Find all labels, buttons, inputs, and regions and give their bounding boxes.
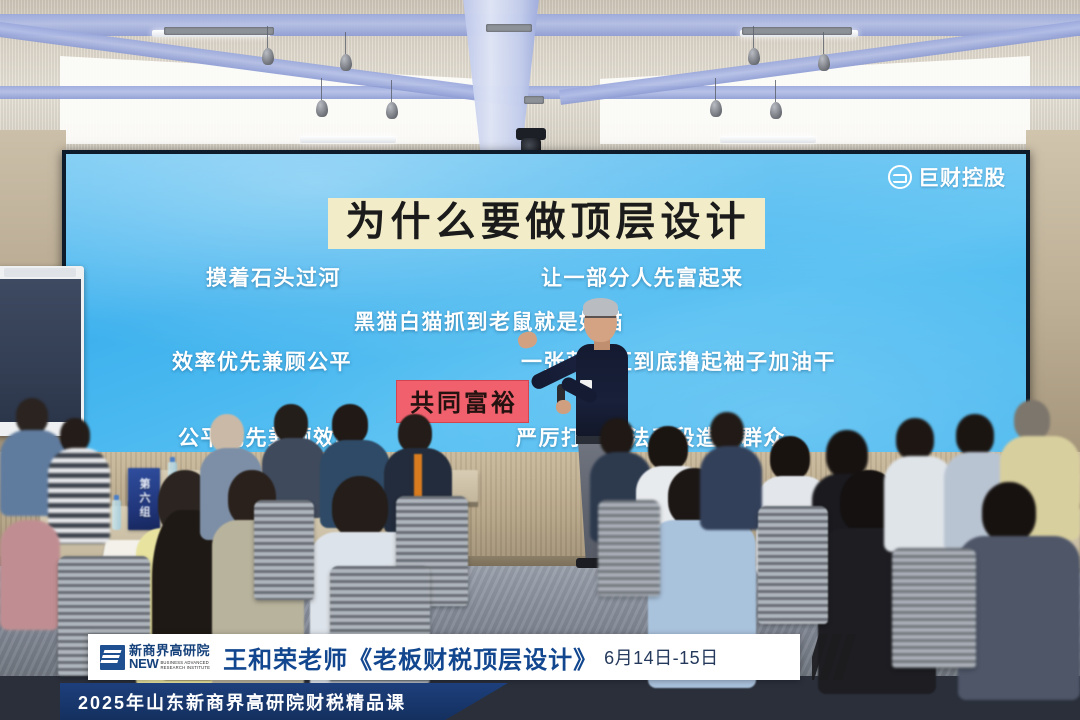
institute-logo-en-line2: RESEARCH INSTITUTE [160,665,210,670]
ceiling-vent [486,24,532,32]
banner-date: 6月14日-15日 [598,644,719,670]
ceiling-pendant-light [710,100,722,117]
table-tent-card-left: 第六组 [128,468,160,530]
ceiling-vent [164,27,274,35]
ceiling-vent [742,27,852,35]
ceiling-light-strip [300,136,396,143]
slide-title: 为什么要做顶层设计 [66,198,1026,249]
banner-subtitle-bar: 2025年山东新商界高研院财税精品课 [60,683,508,720]
chair [254,500,314,600]
ceiling-light-strip [720,136,816,143]
slide-line-4: 效率优先兼顾公平 [172,346,352,376]
chair [598,500,660,596]
banner-subtitle: 2025年山东新商界高研院财税精品课 [78,689,406,715]
ceiling-pendant-light [340,54,352,71]
chair [892,548,976,668]
ceiling-pendant-light [386,102,398,119]
ceiling-pendant-light [748,48,760,65]
institute-logo: 新商界高研院 NEW BUSINESS ADVANCED RESEARCH IN… [88,644,219,670]
ceiling-pendant-light [262,48,274,65]
glasses-icon [585,316,616,324]
slide-line-1: 摸着石头过河 [206,262,341,292]
seminar-photo: 巨财控股 为什么要做顶层设计 摸着石头过河 让一部分人先富起来 黑猫白猫抓到老鼠… [0,0,1080,720]
slide-brand-logo: 巨财控股 [888,162,1006,192]
institute-logo-new: NEW [129,657,158,670]
side-monitor-status-bar [4,268,76,277]
water-bottle [112,500,121,530]
ceiling-vent [524,96,544,104]
slide-line-2: 让一部分人先富起来 [541,262,744,292]
speaker-lower-hand [556,400,571,414]
institute-logo-mark-icon [100,645,125,670]
brand-emblem-icon [888,165,912,189]
ceiling-pendant-light [316,100,328,117]
banner-slash-decoration [812,634,898,680]
banner-title: 王和荣老师《老板财税顶层设计》 [219,640,598,675]
chair [758,506,828,624]
speaker-hair [583,298,618,316]
ceiling-pendant-light [770,102,782,119]
slide-brand-name: 巨财控股 [918,162,1006,192]
institute-logo-en-line1: BUSINESS ADVANCED [160,660,210,665]
ceiling-pendant-light [818,54,830,71]
lower-third-banner: 新商界高研院 NEW BUSINESS ADVANCED RESEARCH IN… [88,634,800,680]
slide-title-text: 为什么要做顶层设计 [328,198,765,249]
